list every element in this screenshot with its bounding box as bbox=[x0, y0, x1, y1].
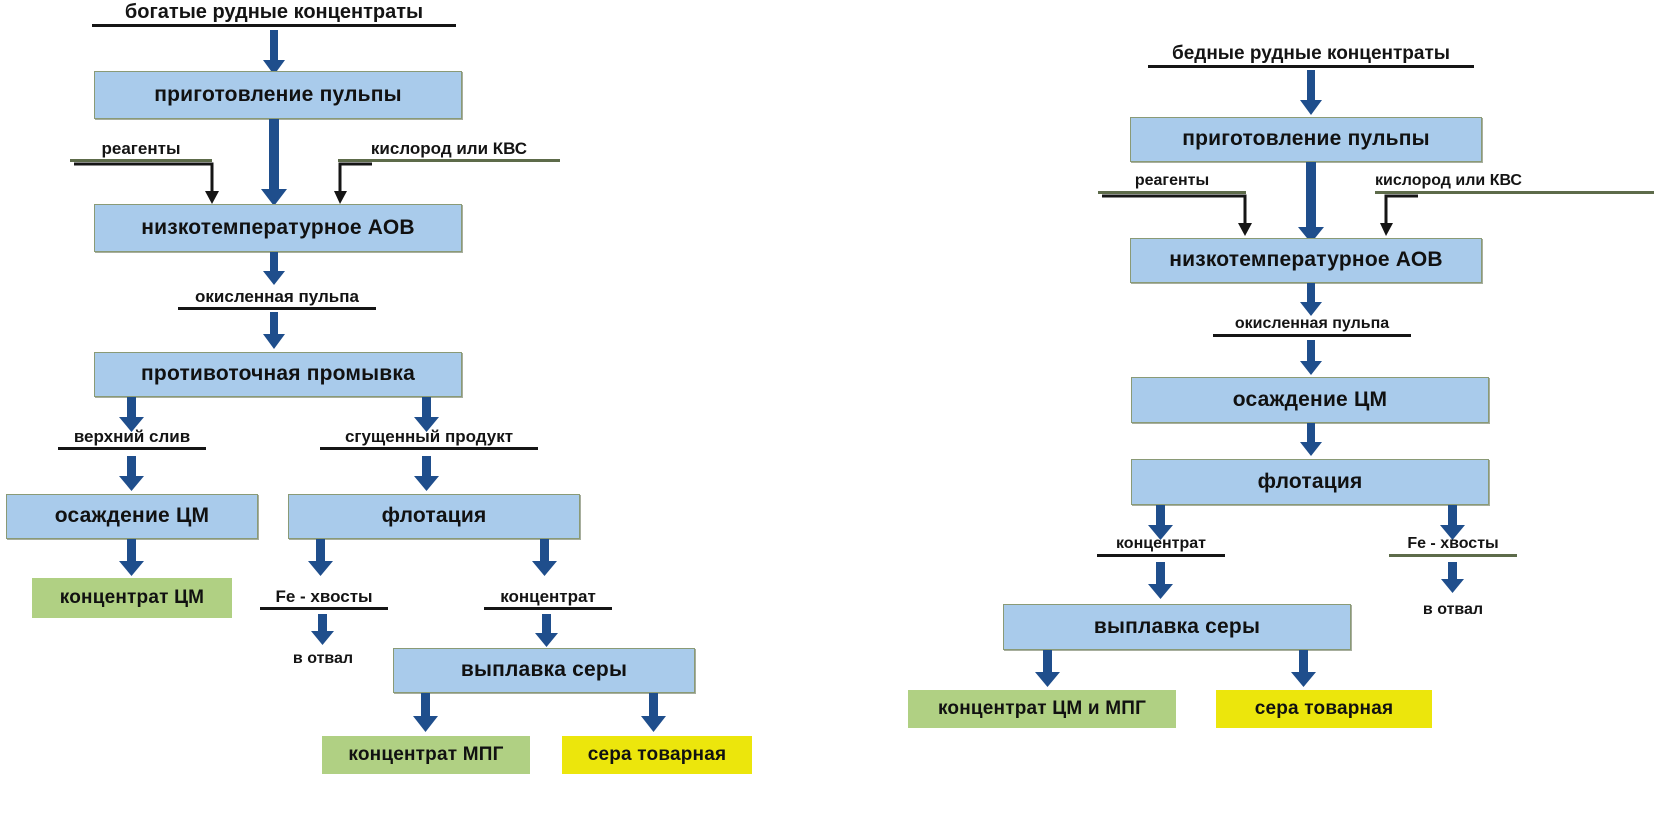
right-elbow-reagents bbox=[1100, 194, 1254, 239]
left-arrow-concentrate-to-smelting bbox=[535, 614, 559, 648]
right-arrow-aov-to-oxpulp bbox=[1299, 283, 1323, 317]
right-node-low-temp-aov[interactable]: низкотемпературное АОВ bbox=[1130, 238, 1482, 283]
left-arrow-oxpulp-to-wash bbox=[262, 312, 286, 350]
left-node-sulfur-smelting[interactable]: выплавка серы bbox=[393, 648, 695, 693]
right-feed-oxygen: кислород или КВС bbox=[1375, 173, 1654, 194]
right-stream-fe-tails-label: Fe - хвосты bbox=[1389, 536, 1517, 552]
right-input-stream-rule bbox=[1148, 65, 1474, 68]
right-stream-fe-tails: Fe - хвосты bbox=[1389, 536, 1517, 557]
right-stream-oxidized-pulp-rule bbox=[1213, 334, 1411, 337]
right-stream-fe-tails-rule bbox=[1389, 554, 1517, 557]
right-arrow-oxpulp-to-precip bbox=[1299, 340, 1323, 376]
right-input-stream: бедные рудные концентраты bbox=[1148, 44, 1474, 68]
right-product-cm-mpg-concentrate-label: концентрат ЦМ и МПГ bbox=[938, 699, 1146, 719]
left-arrow-pulp-to-aov bbox=[260, 119, 288, 207]
left-node-flotation-label: флотация bbox=[382, 505, 487, 527]
right-node-cm-precipitation[interactable]: осаждение ЦМ bbox=[1131, 377, 1489, 423]
left-product-marketable-sulfur-label: сера товарная bbox=[588, 745, 727, 765]
left-stream-concentrate-rule bbox=[484, 607, 612, 610]
left-feed-oxygen-label: кислород или КВС bbox=[338, 140, 560, 157]
left-feed-oxygen: кислород или КВС bbox=[338, 140, 560, 162]
left-stream-concentrate: концентрат bbox=[484, 588, 612, 610]
left-stream-thickened-rule bbox=[320, 447, 538, 450]
left-stream-thickened-label: сгущенный продукт bbox=[320, 428, 538, 445]
right-stream-concentrate-label: концентрат bbox=[1097, 536, 1225, 552]
left-stream-thickened: сгущенный продукт bbox=[320, 428, 538, 450]
right-text-to-dump-label: в отвал bbox=[1423, 601, 1483, 618]
right-stream-oxidized-pulp-label: окисленная пульпа bbox=[1213, 316, 1411, 332]
left-product-marketable-sulfur[interactable]: сера товарная bbox=[562, 736, 752, 774]
right-node-sulfur-smelting[interactable]: выплавка серы bbox=[1003, 604, 1351, 650]
left-node-flotation[interactable]: флотация bbox=[288, 494, 580, 539]
left-stream-overflow-label: верхний слив bbox=[58, 428, 206, 445]
left-node-cm-precipitation-label: осаждение ЦМ bbox=[55, 505, 209, 527]
right-stream-concentrate-rule bbox=[1097, 554, 1225, 557]
right-arrow-input-to-pulp bbox=[1299, 70, 1323, 116]
left-arrow-fetails-to-dump bbox=[311, 614, 335, 646]
right-stream-concentrate: концентрат bbox=[1097, 536, 1225, 557]
left-arrow-flotation-to-fetails bbox=[308, 539, 334, 577]
right-arrow-concentrate-to-smelting bbox=[1148, 562, 1174, 600]
left-feed-reagents: реагенты bbox=[70, 140, 212, 162]
left-stream-oxidized-pulp-rule bbox=[178, 307, 376, 310]
right-arrow-pulp-to-aov bbox=[1297, 162, 1325, 244]
left-product-cm-concentrate[interactable]: концентрат ЦМ bbox=[32, 578, 232, 618]
left-arrow-precip-to-cmconc bbox=[119, 539, 145, 577]
left-arrow-input-to-pulp bbox=[262, 30, 286, 76]
right-elbow-oxygen bbox=[1380, 194, 1420, 239]
right-node-sulfur-smelting-label: выплавка серы bbox=[1094, 616, 1260, 638]
right-node-low-temp-aov-label: низкотемпературное АОВ bbox=[1169, 249, 1443, 271]
right-arrow-smelting-to-cmmpg bbox=[1035, 650, 1061, 688]
left-node-pulp-prep-label: приготовление пульпы bbox=[154, 84, 401, 106]
left-node-counterflow-wash[interactable]: противоточная промывка bbox=[94, 352, 462, 397]
left-node-sulfur-smelting-label: выплавка серы bbox=[461, 659, 627, 681]
left-elbow-reagents bbox=[72, 162, 222, 207]
left-arrow-aov-to-oxpulp bbox=[262, 252, 286, 286]
left-input-stream-rule bbox=[92, 24, 456, 27]
right-node-cm-precipitation-label: осаждение ЦМ bbox=[1233, 389, 1387, 411]
right-feed-reagents: реагенты bbox=[1098, 173, 1246, 194]
left-node-cm-precipitation[interactable]: осаждение ЦМ bbox=[6, 494, 258, 539]
right-arrow-precip-to-flotation bbox=[1299, 423, 1323, 457]
right-text-to-dump: в отвал bbox=[1406, 601, 1500, 619]
left-stream-fe-tails-label: Fe - хвосты bbox=[260, 588, 388, 605]
right-node-pulp-prep[interactable]: приготовление пульпы bbox=[1130, 117, 1482, 162]
right-feed-reagents-label: реагенты bbox=[1098, 173, 1246, 189]
left-feed-reagents-label: реагенты bbox=[70, 140, 212, 157]
left-arrow-smelting-to-mpg bbox=[413, 693, 439, 733]
left-arrow-smelting-to-sulfur bbox=[641, 693, 667, 733]
flowsheet-canvas: богатые рудные концентраты приготовление… bbox=[0, 0, 1654, 831]
left-stream-overflow-rule bbox=[58, 447, 206, 450]
left-input-stream-label: богатые рудные концентраты bbox=[92, 2, 456, 22]
right-stream-oxidized-pulp: окисленная пульпа bbox=[1213, 316, 1411, 337]
left-arrow-thickened-to-flotation bbox=[414, 456, 440, 492]
left-input-stream: богатые рудные концентраты bbox=[92, 2, 456, 27]
right-feed-oxygen-label: кислород или КВС bbox=[1375, 173, 1654, 189]
right-arrow-fetails-to-dump bbox=[1441, 562, 1465, 594]
left-product-mpg-concentrate[interactable]: концентрат МПГ bbox=[322, 736, 530, 774]
left-elbow-oxygen bbox=[334, 162, 374, 207]
left-arrow-overflow-to-precip bbox=[119, 456, 145, 492]
left-stream-oxidized-pulp: окисленная пульпа bbox=[178, 288, 376, 310]
left-text-to-dump: в отвал bbox=[276, 650, 370, 668]
left-node-pulp-prep[interactable]: приготовление пульпы bbox=[94, 71, 462, 119]
right-node-flotation[interactable]: флотация bbox=[1131, 459, 1489, 505]
left-node-low-temp-aov-label: низкотемпературное АОВ bbox=[141, 217, 415, 239]
left-product-mpg-concentrate-label: концентрат МПГ bbox=[348, 745, 503, 765]
left-node-counterflow-wash-label: противоточная промывка bbox=[141, 363, 415, 385]
left-stream-concentrate-label: концентрат bbox=[484, 588, 612, 605]
right-node-flotation-label: флотация bbox=[1258, 471, 1363, 493]
left-stream-fe-tails-rule bbox=[260, 607, 388, 610]
right-node-pulp-prep-label: приготовление пульпы bbox=[1182, 128, 1429, 150]
right-input-stream-label: бедные рудные концентраты bbox=[1148, 44, 1474, 63]
right-arrow-smelting-to-sulfur bbox=[1291, 650, 1317, 688]
right-product-marketable-sulfur-label: сера товарная bbox=[1255, 699, 1394, 719]
right-product-marketable-sulfur[interactable]: сера товарная bbox=[1216, 690, 1432, 728]
left-product-cm-concentrate-label: концентрат ЦМ bbox=[60, 588, 204, 608]
left-node-low-temp-aov[interactable]: низкотемпературное АОВ bbox=[94, 204, 462, 252]
left-stream-overflow: верхний слив bbox=[58, 428, 206, 450]
left-arrow-flotation-to-concentrate bbox=[532, 539, 558, 577]
left-text-to-dump-label: в отвал bbox=[293, 650, 353, 667]
right-product-cm-mpg-concentrate[interactable]: концентрат ЦМ и МПГ bbox=[908, 690, 1176, 728]
left-stream-fe-tails: Fe - хвосты bbox=[260, 588, 388, 610]
left-stream-oxidized-pulp-label: окисленная пульпа bbox=[178, 288, 376, 305]
